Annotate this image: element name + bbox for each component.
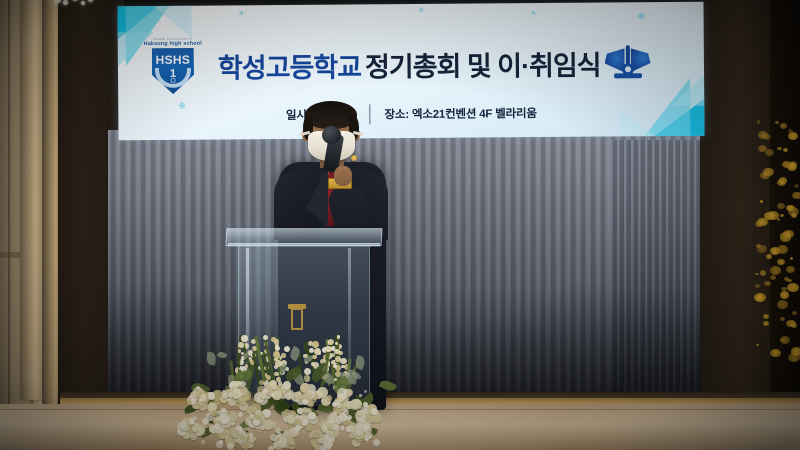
- event-venue: 장소: 엑소21컨벤션 4F 벨라리움: [370, 105, 550, 122]
- decor-polygon-icon: [151, 4, 191, 38]
- speaker-hand: [334, 166, 352, 186]
- sparkle-icon: ✶: [530, 9, 538, 18]
- sparkle-icon: ✶: [417, 6, 425, 15]
- shield-initials: HSHS: [156, 53, 191, 67]
- title-blue-part: 학성고등학교: [218, 45, 361, 85]
- ceiling-light-icon: [52, 0, 96, 12]
- sparkle-icon: ❉: [638, 12, 646, 21]
- screen-header: Alumni Association of Haksung high schoo…: [118, 32, 704, 97]
- wall-seam: [8, 0, 10, 408]
- school-logo: Alumni Association of Haksung high schoo…: [132, 37, 214, 94]
- floral-arrangement: [178, 332, 390, 450]
- winged-torch-emblem-icon: [604, 42, 650, 82]
- shield-icon: HSHS 1 O: [152, 48, 194, 94]
- logo-school-romanized: Haksung high school: [144, 41, 202, 47]
- lapel-pin-icon: [351, 155, 357, 161]
- projection-screen: ✶ ✶ ✶ ❉ ❉ Alumni Association of Haksung …: [117, 2, 704, 141]
- podium-top-edge: [228, 243, 380, 247]
- sparkle-icon: ✶: [238, 9, 246, 18]
- floor-reflection: [0, 404, 800, 450]
- shield-letter: O: [152, 78, 194, 85]
- floor-seam: [0, 409, 800, 410]
- screen-subtitle-row: 일시: 2 .25(화) 장소: 엑소21컨벤션 4F 벨라리움: [118, 102, 704, 127]
- microphone-icon: [322, 126, 341, 144]
- gold-floral-decoration: [754, 118, 800, 358]
- title-dark-part: 정기총회 및 이·취임식: [365, 43, 601, 84]
- scene-root: ✶ ✶ ✶ ❉ ❉ Alumni Association of Haksung …: [0, 0, 800, 450]
- podium-emblem-icon: [286, 304, 308, 334]
